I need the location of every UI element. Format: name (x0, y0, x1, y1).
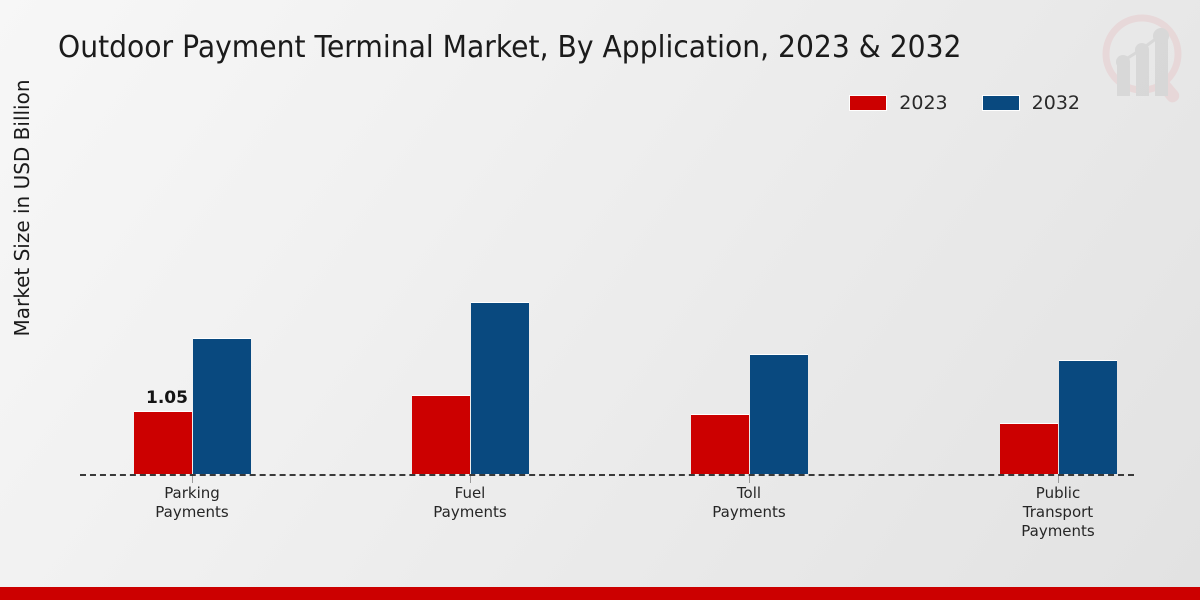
x-axis-label-toll-payments: TollPayments (639, 484, 859, 522)
bar-2032-public-transport-payments[interactable] (1059, 360, 1117, 474)
bar-2023-public-transport-payments[interactable] (1000, 423, 1058, 474)
plot-area: 1.05 ParkingPaymentsFuelPaymentsTollPaym… (0, 0, 1200, 560)
footer-accent-bar (0, 587, 1200, 600)
x-axis-label-fuel-payments: FuelPayments (360, 484, 580, 522)
bar-2032-parking-payments[interactable] (193, 338, 251, 474)
bar-2023-parking-payments[interactable] (134, 411, 192, 474)
chart-page: Outdoor Payment Terminal Market, By Appl… (0, 0, 1200, 600)
x-axis-label-line: Parking (82, 484, 302, 503)
bar-2032-fuel-payments[interactable] (471, 302, 529, 474)
x-axis-label-line: Toll (639, 484, 859, 503)
x-axis-label-line: Payments (360, 503, 580, 522)
x-axis-label-line: Transport (948, 503, 1168, 522)
x-axis-label-public-transport-payments: PublicTransportPayments (948, 484, 1168, 541)
x-axis-label-line: Payments (948, 522, 1168, 541)
bar-value-label: 1.05 (146, 388, 188, 408)
x-axis-label-line: Public (948, 484, 1168, 503)
x-axis-label-line: Fuel (360, 484, 580, 503)
bar-2032-toll-payments[interactable] (750, 354, 808, 474)
x-axis-label-line: Payments (639, 503, 859, 522)
x-axis-baseline (80, 474, 1134, 476)
x-axis-label-line: Payments (82, 503, 302, 522)
bar-2023-toll-payments[interactable] (691, 414, 749, 474)
bar-2023-fuel-payments[interactable] (412, 395, 470, 474)
x-axis-label-parking-payments: ParkingPayments (82, 484, 302, 522)
